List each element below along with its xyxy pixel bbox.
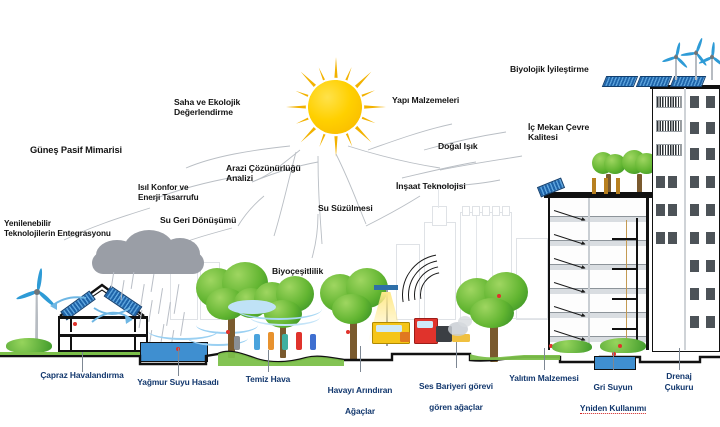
label-insaat-teknolojisi: İnşaat Teknolojisi — [396, 181, 466, 191]
leader-line — [360, 346, 361, 372]
leader-line — [613, 352, 614, 370]
caption-havayi-arindiran-agaclar: Havayı Arındıran Ağaçlar — [328, 374, 393, 427]
leader-line — [456, 342, 457, 368]
bush — [600, 338, 646, 353]
caption-line-2: gören ağaçlar — [419, 402, 493, 413]
leader-line — [544, 348, 545, 370]
label-yenilenebilir-teknolojilerin-entegrasyonu: Yenilenebilir Teknolojilerin Entegrasyon… — [4, 219, 111, 239]
label-su-geri-donusumu: Su Geri Dönüşümü — [160, 215, 236, 225]
green-roof-tree — [592, 152, 626, 196]
leader-line — [679, 348, 680, 370]
leader-line — [268, 350, 269, 372]
greywater-tank — [594, 356, 636, 370]
caption-line-1: Gri Suyun — [580, 382, 646, 393]
label-isil-konfor-ve-enerji-tasarrufu: Isıl Konfor ve Enerji Tasarrufu — [138, 183, 199, 203]
caption-line-1: Havayı Arındıran — [328, 385, 393, 396]
label-gunes-pasif-mimarisi: Güneş Pasif Mimarisi — [30, 145, 122, 156]
sun-core — [308, 80, 362, 134]
label-yapi-malzemeleri: Yapı Malzemeleri — [392, 95, 459, 105]
label-biyolojik-iyilestirme: Biyolojik İyileştirme — [510, 64, 589, 74]
infographic-canvas: Güneş Pasif Mimarisi Saha ve Ekolojik De… — [0, 0, 720, 427]
caption-ses-bariyeri-goren-agaclar: Ses Bariyeri görevi gören ağaçlar — [419, 370, 493, 423]
roof-wind-turbine — [700, 40, 720, 80]
label-dogal-isik: Doğal Işık — [438, 141, 478, 151]
caption-yalitim-malzemesi: Yalıtım Malzemesi — [509, 373, 579, 384]
label-ic-mekan-cevre-kalitesi: İç Mekan Çevre Kalitesi — [528, 122, 589, 143]
leader-line — [178, 348, 179, 376]
grass-strip — [0, 352, 140, 355]
label-su-suzulmesi: Su Süzülmesi — [318, 203, 373, 213]
caption-yagmur-suyu-hasadi: Yağmur Suyu Hasadı — [137, 377, 219, 388]
leader-line — [82, 352, 83, 372]
label-saha-ve-ekolojik-degerlendirme: Saha ve Ekolojik Değerlendirme — [174, 97, 240, 118]
caption-gri-suyun-yeniden-kullanimi: Gri Suyun Yniden Kullanımı — [580, 371, 646, 425]
caption-line-1: Ses Bariyeri görevi — [419, 381, 493, 392]
caption-temiz-hava: Temiz Hava — [246, 374, 290, 385]
caption-drenaj-cukuru: Drenaj Çukuru — [659, 371, 700, 392]
caption-capraz-havalandirma: Çapraz Havalandırma — [40, 370, 123, 381]
caption-line-2-misspelled: Yniden Kullanımı — [580, 403, 646, 415]
solar-panel — [602, 76, 638, 87]
bush — [552, 340, 592, 353]
caption-line-2: Ağaçlar — [328, 406, 393, 417]
label-arazi-cozunurlugu-analizi: Arazi Çözünürlüğü Analizi — [226, 163, 301, 184]
